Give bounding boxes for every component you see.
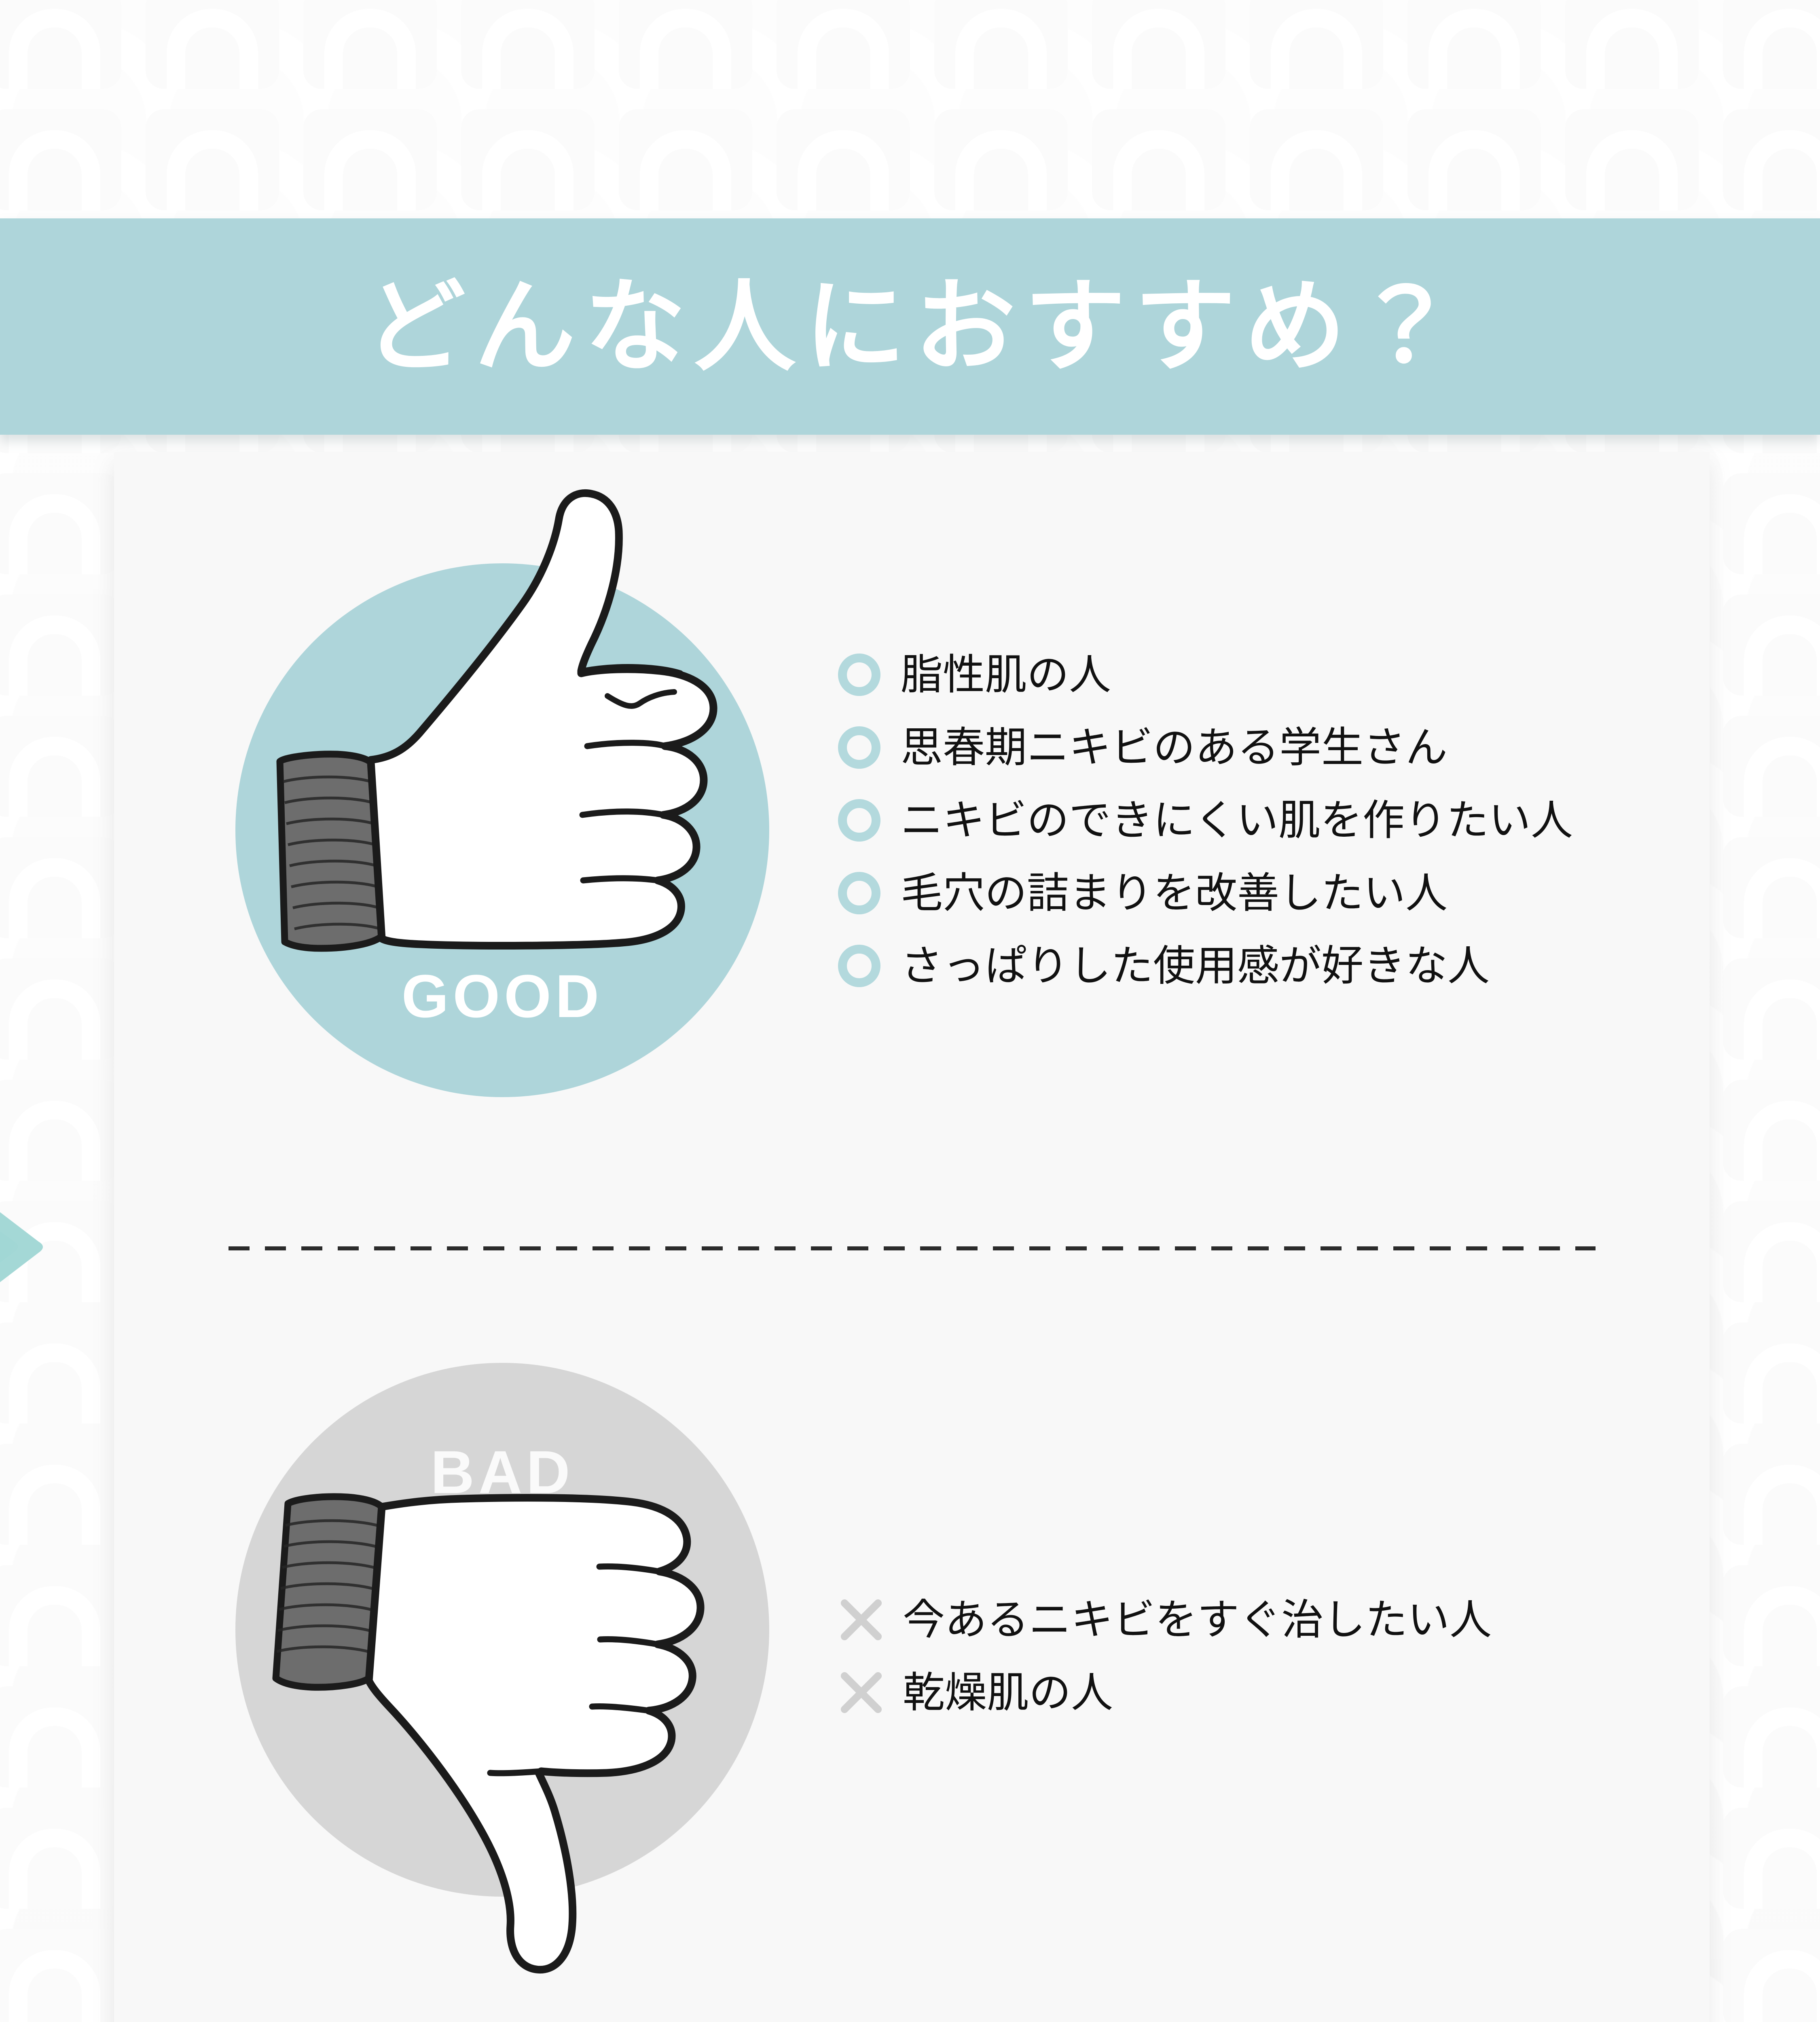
list-item-label: 乾燥肌の人 xyxy=(903,1671,1113,1713)
cross-mark-icon xyxy=(838,1669,885,1716)
background-tile xyxy=(461,109,595,210)
background-tile xyxy=(1723,958,1820,1060)
background-tile xyxy=(146,0,279,89)
background-tile xyxy=(0,0,121,89)
background-tile xyxy=(0,1322,121,1423)
background-tile xyxy=(0,594,121,696)
background-tile xyxy=(1723,473,1820,574)
background-tile xyxy=(146,109,279,210)
background-tile xyxy=(777,0,910,89)
background-tile xyxy=(303,0,437,89)
background-tile xyxy=(0,1929,121,2022)
background-tile xyxy=(0,958,121,1060)
background-tile xyxy=(1723,1201,1820,1302)
background-tile xyxy=(461,0,595,89)
background-tile xyxy=(1723,716,1820,817)
background-tile xyxy=(1092,0,1225,89)
background-tile xyxy=(1250,109,1383,210)
infographic-page: どんな人におすすめ？ xyxy=(0,0,1820,2022)
background-tile xyxy=(0,837,121,938)
background-tile xyxy=(0,1444,121,1545)
background-tile xyxy=(1092,109,1225,210)
background-tile xyxy=(1723,1080,1820,1181)
background-tile xyxy=(934,109,1068,210)
circle-outline-icon xyxy=(838,799,880,842)
background-tile xyxy=(0,1565,121,1666)
good-section: GOOD 脂性肌の人 思春期ニキビのある学生さん ニキビのできにくい肌を作りたい… xyxy=(114,452,1710,1220)
thumbs-down-icon xyxy=(235,1488,765,2022)
background-tile xyxy=(1723,1808,1820,1909)
background-tile xyxy=(0,1686,121,1787)
background-tile xyxy=(777,109,910,210)
list-item-label: 今あるニキビをすぐ治したい人 xyxy=(903,1599,1492,1641)
background-tile xyxy=(1723,1686,1820,1787)
list-item-label: さっぱりした使用感が好きな人 xyxy=(901,945,1490,987)
list-item: 思春期ニキビのある学生さん xyxy=(838,711,1667,784)
background-tile xyxy=(1565,109,1699,210)
list-item: 今あるニキビをすぐ治したい人 xyxy=(838,1583,1667,1656)
background-tile xyxy=(1723,0,1820,89)
good-list: 脂性肌の人 思春期ニキビのある学生さん ニキビのできにくい肌を作りたい人 毛穴の… xyxy=(838,638,1667,1002)
background-tile xyxy=(1723,1929,1820,2022)
background-tile xyxy=(1723,1444,1820,1545)
list-item: ニキビのできにくい肌を作りたい人 xyxy=(838,784,1667,857)
bad-list: 今あるニキビをすぐ治したい人 乾燥肌の人 xyxy=(838,1583,1667,1729)
page-title: どんな人におすすめ？ xyxy=(0,218,1820,435)
circle-outline-icon xyxy=(838,945,880,987)
header-band: どんな人におすすめ？ xyxy=(0,218,1820,435)
background-tile xyxy=(1723,837,1820,938)
circle-outline-icon xyxy=(838,726,880,769)
background-tile xyxy=(303,109,437,210)
background-tile xyxy=(1565,0,1699,89)
background-tile xyxy=(1723,1322,1820,1423)
background-tile xyxy=(1250,0,1383,89)
list-item-label: 毛穴の詰まりを改善したい人 xyxy=(901,872,1448,914)
background-tile xyxy=(619,109,752,210)
background-tile xyxy=(0,1808,121,1909)
list-item-label: 脂性肌の人 xyxy=(901,654,1111,696)
chevron-right-shape-icon xyxy=(0,1185,67,1306)
circle-outline-icon xyxy=(838,654,880,696)
background-tile xyxy=(619,0,752,89)
list-item: 乾燥肌の人 xyxy=(838,1656,1667,1729)
list-item: さっぱりした使用感が好きな人 xyxy=(838,929,1667,1002)
background-tile xyxy=(1723,1565,1820,1666)
background-tile xyxy=(0,473,121,574)
background-tile xyxy=(1723,594,1820,696)
background-tile xyxy=(1407,0,1541,89)
cross-mark-icon xyxy=(838,1597,885,1643)
list-item: 毛穴の詰まりを改善したい人 xyxy=(838,857,1667,929)
list-item-label: ニキビのできにくい肌を作りたい人 xyxy=(901,799,1573,841)
background-tile xyxy=(0,716,121,817)
list-item: 脂性肌の人 xyxy=(838,638,1667,711)
background-tile xyxy=(0,109,121,210)
circle-outline-icon xyxy=(838,872,880,914)
background-tile xyxy=(934,0,1068,89)
background-tile xyxy=(1407,109,1541,210)
dashed-divider xyxy=(229,1246,1596,1250)
list-item-label: 思春期ニキビのある学生さん xyxy=(901,726,1448,768)
bad-section: BAD xyxy=(114,1318,1710,2022)
background-tile xyxy=(0,1080,121,1181)
good-badge-label: GOOD xyxy=(235,966,769,1026)
background-tile xyxy=(1723,109,1820,210)
